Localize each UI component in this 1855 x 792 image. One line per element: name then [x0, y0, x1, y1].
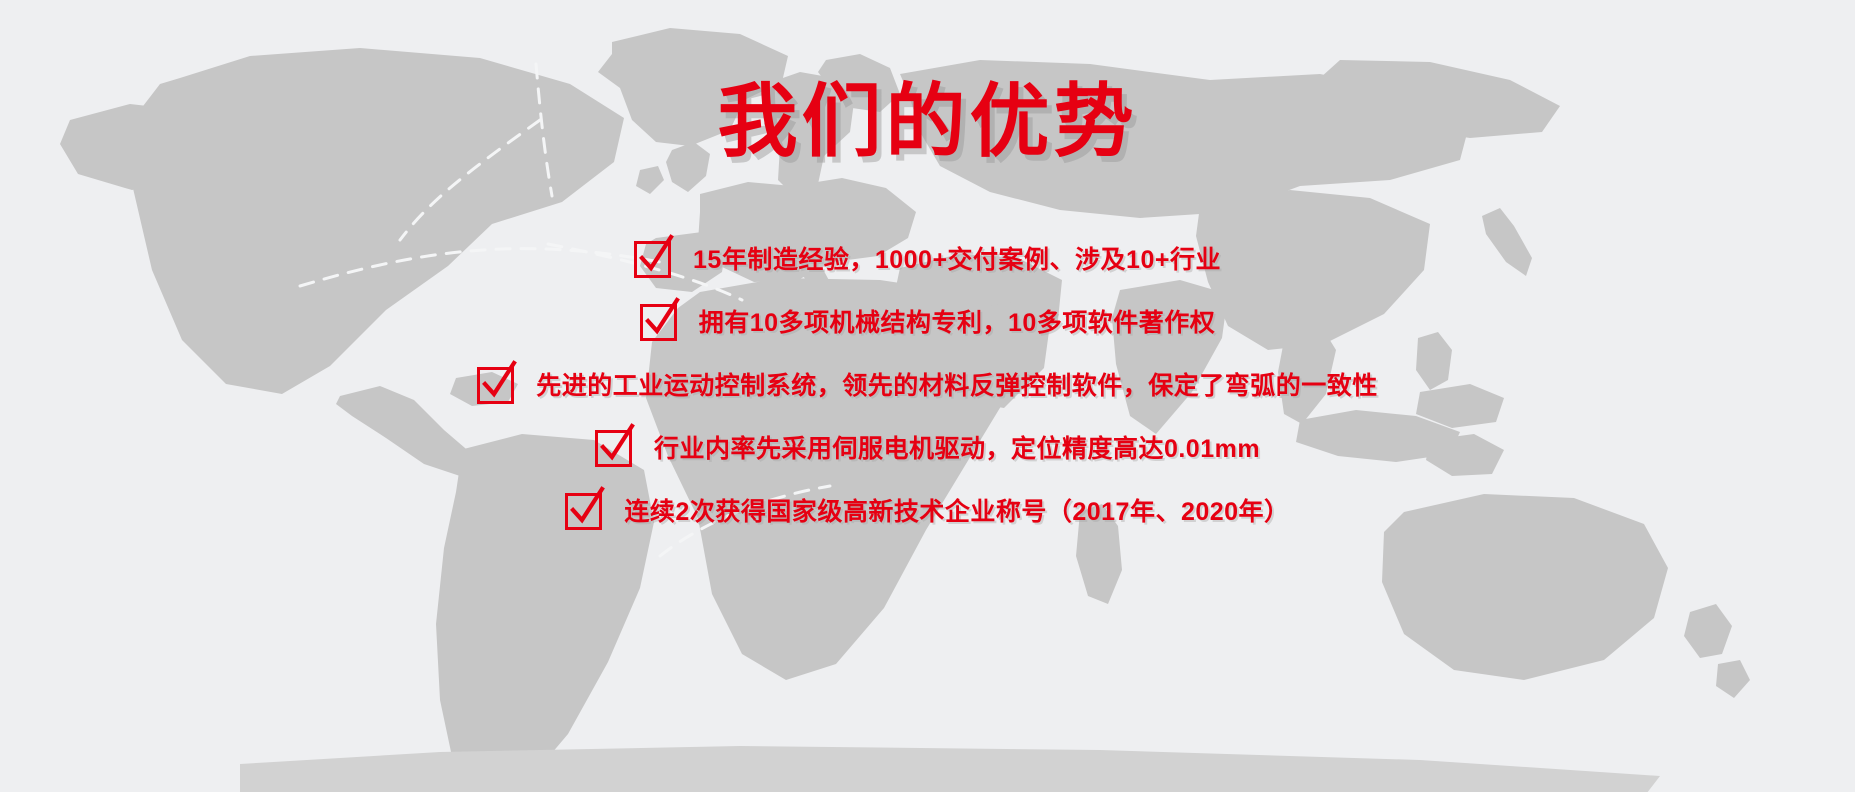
checkbox-checked-icon	[477, 367, 514, 404]
advantage-text: 拥有10多项机械结构专利，10多项软件著作权	[699, 307, 1216, 339]
advantage-text: 15年制造经验，1000+交付案例、涉及10+行业	[693, 244, 1221, 276]
list-item: 15年制造经验，1000+交付案例、涉及10+行业	[0, 228, 1855, 291]
checkbox-checked-icon	[640, 304, 677, 341]
checkbox-checked-icon	[595, 430, 632, 467]
checkbox-checked-icon	[634, 241, 671, 278]
list-item: 先进的工业运动控制系统，领先的材料反弹控制软件，保定了弯弧的一致性	[0, 354, 1855, 417]
advantage-list: 15年制造经验，1000+交付案例、涉及10+行业 拥有10多项机械结构专利，1…	[0, 228, 1855, 543]
advantage-text: 行业内率先采用伺服电机驱动，定位精度高达0.01mm	[654, 433, 1260, 465]
list-item: 行业内率先采用伺服电机驱动，定位精度高达0.01mm	[0, 417, 1855, 480]
banner-content: 我们的优势 15年制造经验，1000+交付案例、涉及10+行业 拥有10多项机械…	[0, 0, 1855, 792]
advantage-text: 连续2次获得国家级高新技术企业称号（2017年、2020年）	[624, 496, 1289, 528]
checkbox-checked-icon	[565, 493, 602, 530]
advantage-text: 先进的工业运动控制系统，领先的材料反弹控制软件，保定了弯弧的一致性	[536, 370, 1378, 402]
page-title: 我们的优势	[0, 78, 1855, 166]
list-item: 连续2次获得国家级高新技术企业称号（2017年、2020年）	[0, 480, 1855, 543]
advantages-banner: 我们的优势 15年制造经验，1000+交付案例、涉及10+行业 拥有10多项机械…	[0, 0, 1855, 792]
list-item: 拥有10多项机械结构专利，10多项软件著作权	[0, 291, 1855, 354]
